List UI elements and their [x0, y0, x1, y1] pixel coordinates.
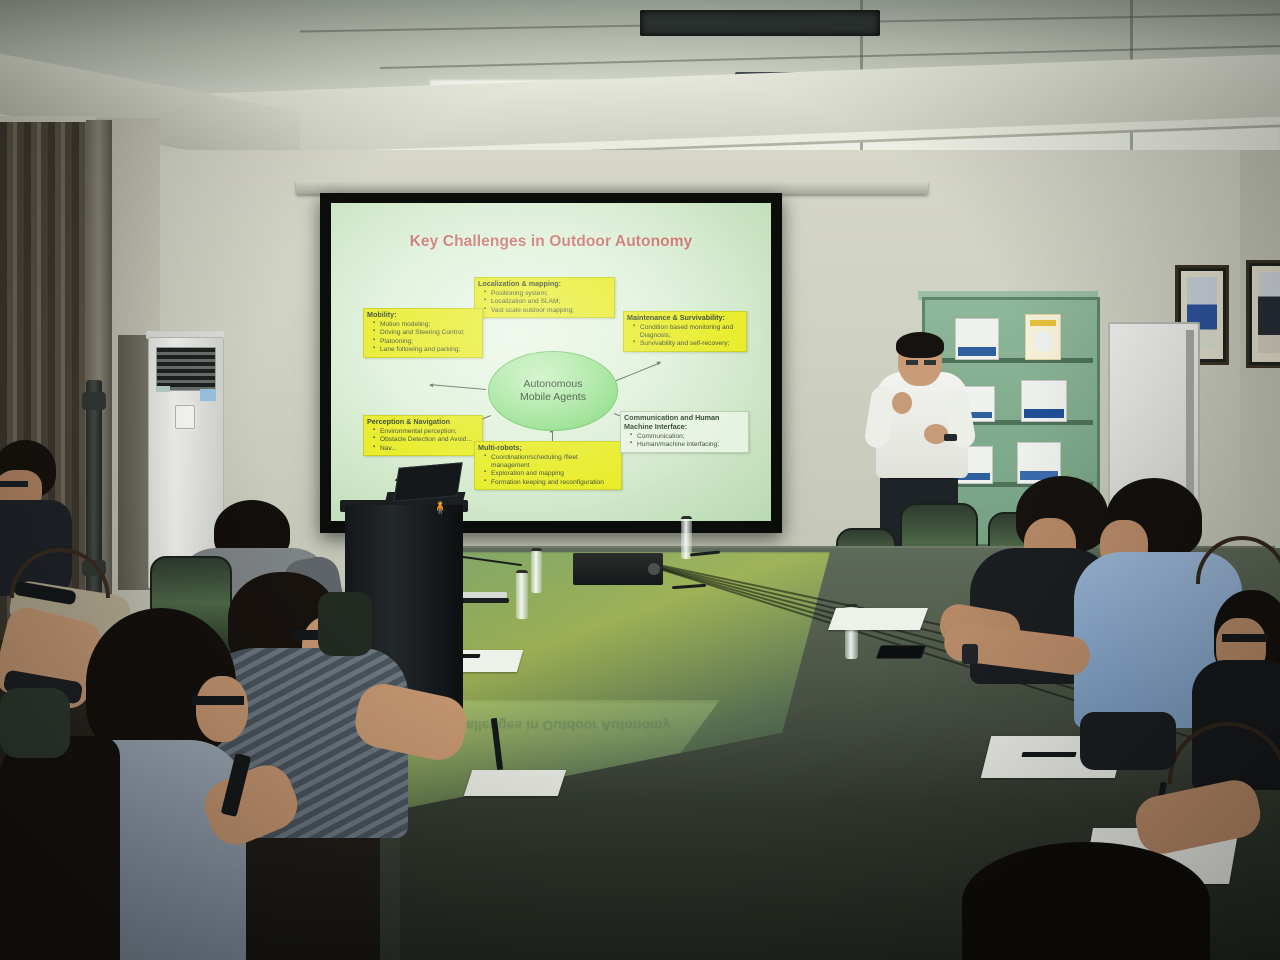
slide-hub-node: AutonomousMobile Agents: [488, 351, 618, 431]
pipe-joint: [82, 392, 106, 410]
notepad[interactable]: [464, 770, 566, 796]
list-item: Obstacle Detection and Avoid...: [374, 436, 479, 444]
list-item: Formation keeping and reconfiguration: [485, 479, 618, 487]
lectern-emblem-icon: 🧍: [432, 500, 448, 518]
ceiling-fixture-icon: [640, 10, 880, 36]
list-item: Environmental perception;: [374, 428, 479, 436]
list-item: Platooning;: [374, 338, 479, 346]
list-item: Coordination/scheduling /fleet managemen…: [485, 454, 618, 470]
wall-recess: [118, 335, 150, 590]
audience-face: [196, 676, 248, 742]
glasses-icon: [0, 481, 28, 487]
list-item: Nav...: [374, 445, 479, 453]
air-conditioner-label: [200, 389, 216, 401]
glasses-icon: [192, 696, 244, 705]
smartphone[interactable]: [875, 645, 926, 659]
slide-node-mobility: Mobility: Motion modeling; Driving and S…: [363, 308, 483, 358]
list-item: Motion modeling;: [374, 321, 479, 329]
glasses-icon: [1222, 634, 1268, 642]
slide-node-perception: Perception & Navigation Environmental pe…: [363, 415, 483, 456]
projector-screen-housing: [296, 180, 928, 194]
list-item: Localization and SLAM;: [485, 298, 611, 306]
chair-back: [0, 688, 70, 758]
chair-back[interactable]: [1080, 712, 1176, 770]
water-bottle[interactable]: [516, 570, 528, 619]
presenter-hair: [896, 332, 944, 358]
chair-back[interactable]: [318, 592, 372, 656]
list-item: Condition based monitoring and Diagnosis…: [634, 324, 743, 340]
slide-node-communication: Communication and Human Machine Interfac…: [620, 411, 749, 453]
air-conditioner-badge: [156, 386, 170, 392]
arrow-mobility: [430, 384, 486, 390]
list-item: Human/machine interfacing;: [631, 441, 745, 449]
audience-member: [962, 842, 1210, 960]
paper-sheet[interactable]: [828, 608, 928, 630]
framed-picture-right: [1246, 260, 1280, 368]
book-item: [1025, 314, 1061, 360]
slide-node-localization: Localization & mapping: Positioning syst…: [474, 277, 615, 318]
wristwatch-icon: [962, 644, 978, 664]
conference-room-photo: Panasonic Key Challenges in Outdoor Auto…: [0, 0, 1280, 960]
list-item: Exploration and mapping: [485, 470, 618, 478]
laptop-screen[interactable]: [393, 462, 462, 502]
air-conditioner-display[interactable]: [175, 405, 195, 429]
glasses-icon: [906, 360, 936, 365]
wristwatch-icon: [944, 434, 957, 441]
air-conditioner-grille-icon: [156, 347, 216, 391]
list-item: Driving and Steering Control;: [374, 329, 479, 337]
audience-member: [0, 736, 120, 960]
book-item: [1021, 380, 1067, 422]
av-box-dial[interactable]: [648, 563, 660, 575]
list-item: Communication;: [631, 433, 745, 441]
slide-node-maintenance: Maintenance & Survivability: Condition b…: [623, 311, 747, 352]
presenter-hand-left: [892, 392, 912, 414]
water-bottle[interactable]: [531, 548, 542, 593]
list-item: Lane following and parking;: [374, 346, 479, 354]
pen[interactable]: [1021, 752, 1076, 757]
book-item: [955, 318, 999, 360]
list-item: Positioning system;: [485, 290, 611, 298]
arrow-maintenance: [614, 362, 661, 382]
list-item: Survivability and self-recovery;: [634, 340, 743, 348]
slide-node-multirobots: Multi-robots; Coordination/scheduling /f…: [474, 441, 622, 490]
list-item: Vast scale outdoor mapping;: [485, 307, 611, 315]
slide-title: Key Challenges in Outdoor Autonomy: [331, 233, 771, 251]
